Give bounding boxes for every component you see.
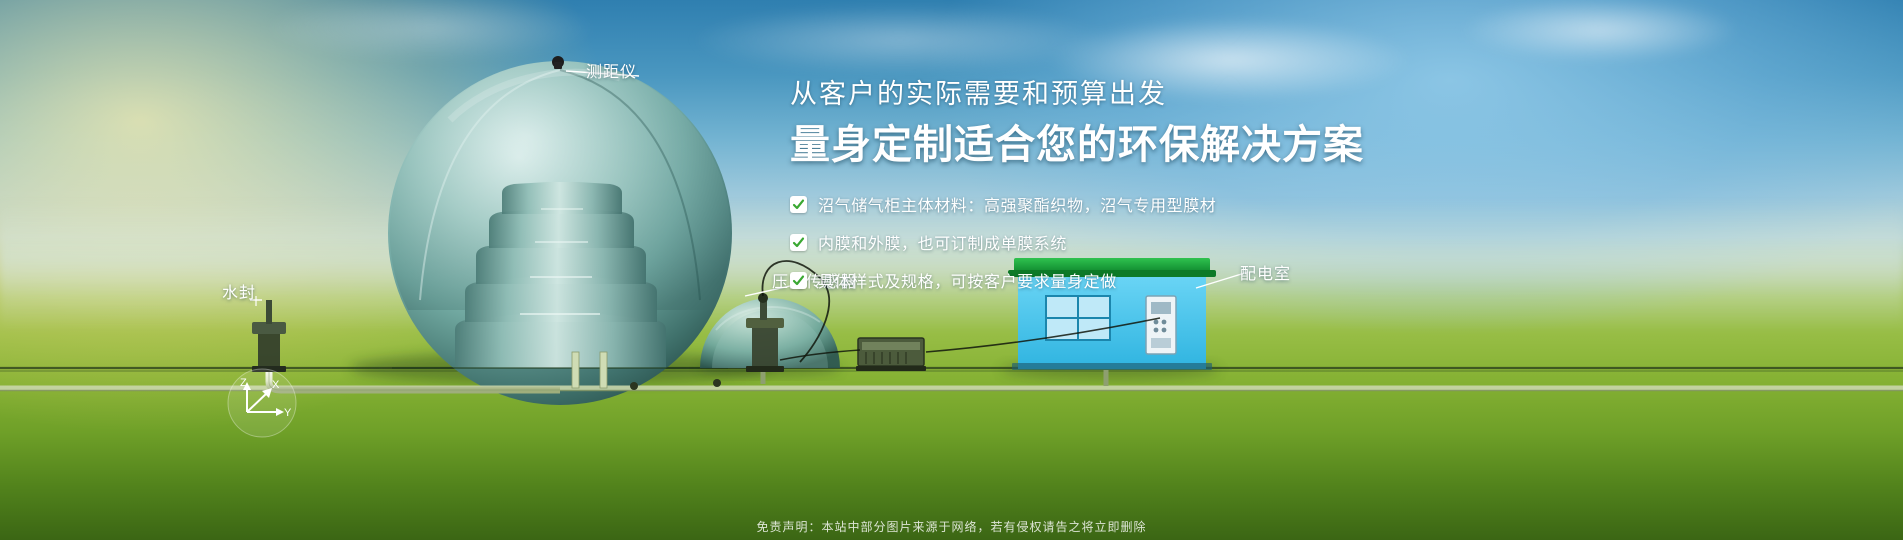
- headline-main: 量身定制适合您的环保解决方案: [790, 120, 1410, 170]
- feature-bullet-list: 沼气储气柜主体材料：高强聚酯织物，沼气专用型膜材 内膜和外膜，也可订制成单膜系统…: [790, 192, 1410, 292]
- feature-bullet-item: 沼气储气柜主体材料：高强聚酯织物，沼气专用型膜材: [790, 192, 1410, 216]
- check-icon: [790, 196, 807, 213]
- banner-root: Z Y X 测距仪 水封 压力传感器 配电室 从客户的实际需要和预算出发 量身定…: [0, 0, 1903, 540]
- biogas-dome: [388, 61, 732, 465]
- check-icon: [790, 234, 807, 251]
- feature-bullet-text: 具体样式及规格，可按客户要求量身定做: [818, 268, 1117, 292]
- axis-label-y: Y: [284, 407, 292, 419]
- feature-bullet-item: 具体样式及规格，可按客户要求量身定做: [790, 268, 1410, 292]
- feature-bullet-text: 内膜和外膜，也可订制成单膜系统: [818, 230, 1067, 254]
- blower-skid: [856, 338, 926, 371]
- callout-label-rangefinder: 测距仪: [586, 58, 637, 82]
- water-seal-unit: [252, 300, 286, 372]
- headline-subtitle: 从客户的实际需要和预算出发: [790, 78, 1410, 110]
- feature-bullet-text: 沼气储气柜主体材料：高强聚酯织物，沼气专用型膜材: [818, 192, 1216, 216]
- axis-gizmo: Z Y X: [228, 369, 296, 437]
- callout-label-water-seal: 水封: [222, 279, 256, 303]
- check-icon: [790, 272, 807, 289]
- axis-label-x: X: [272, 379, 280, 391]
- headline-block: 从客户的实际需要和预算出发 量身定制适合您的环保解决方案 沼气储气柜主体材料：高…: [790, 78, 1410, 306]
- disclaimer-text: 免责声明：本站中部分图片来源于网络，若有侵权请告之将立即删除: [0, 518, 1903, 535]
- axis-label-z: Z: [240, 377, 247, 389]
- feature-bullet-item: 内膜和外膜，也可订制成单膜系统: [790, 230, 1410, 254]
